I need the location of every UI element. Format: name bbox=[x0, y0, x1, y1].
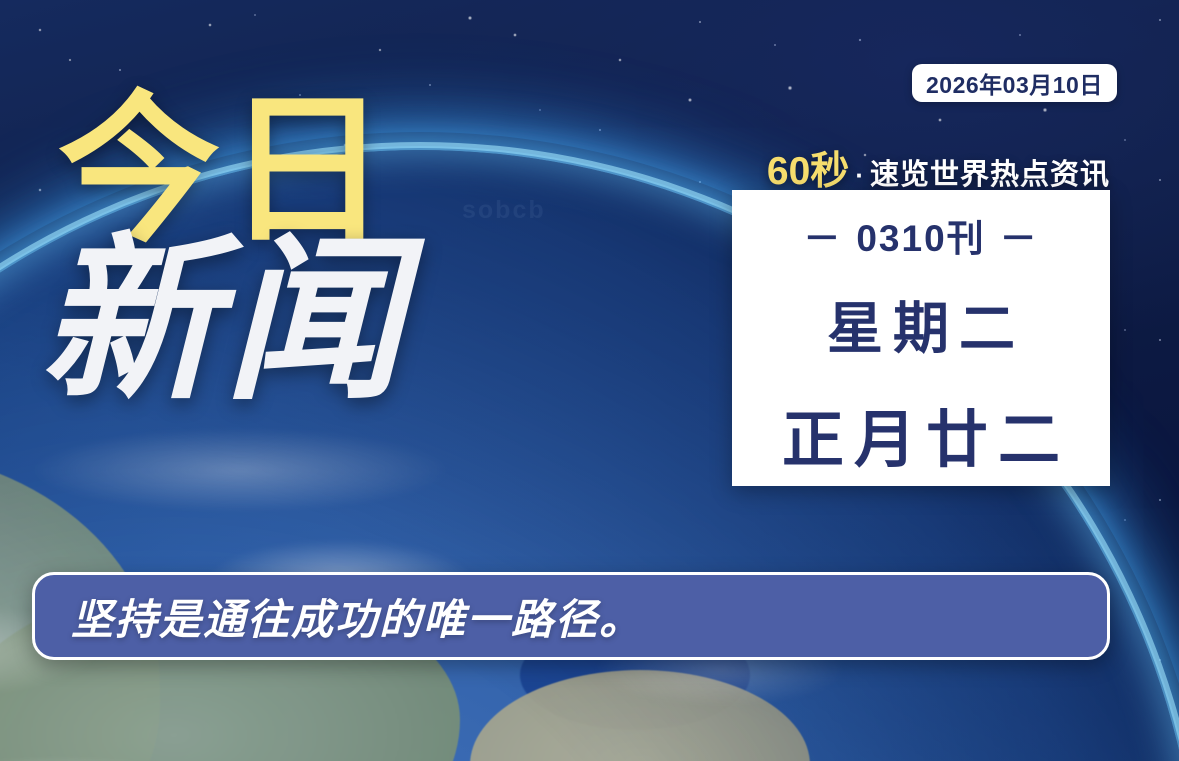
poster-title: 今日 新闻 bbox=[58, 96, 488, 403]
quote-text: 坚持是通往成功的唯一路径。 bbox=[71, 586, 643, 647]
quote-bar: 坚持是通往成功的唯一路径。 bbox=[32, 572, 1110, 660]
lunar-date-label: 正月廿二 bbox=[772, 389, 1070, 479]
tagline-seconds: 60秒 bbox=[767, 140, 849, 196]
date-badge: 2026年03月10日 bbox=[912, 64, 1117, 102]
issue-dash-left: － bbox=[803, 208, 842, 262]
page-title-line2: 新闻 bbox=[40, 239, 488, 403]
weekday-label: 星期二 bbox=[817, 284, 1025, 365]
news-poster: sobcb 今日 新闻 2026年03月10日 60秒 · 速览世界热点资讯 －… bbox=[0, 0, 1179, 761]
tagline: 60秒 · 速览世界热点资讯 bbox=[740, 140, 1110, 196]
tagline-description: 速览世界热点资讯 bbox=[870, 151, 1110, 193]
issue-row: － 0310刊 － bbox=[803, 208, 1038, 262]
tagline-separator: · bbox=[855, 160, 864, 191]
date-info-card: － 0310刊 － 星期二 正月廿二 bbox=[732, 190, 1110, 486]
issue-dash-right: － bbox=[1000, 208, 1039, 262]
issue-label: 0310刊 bbox=[856, 208, 985, 262]
